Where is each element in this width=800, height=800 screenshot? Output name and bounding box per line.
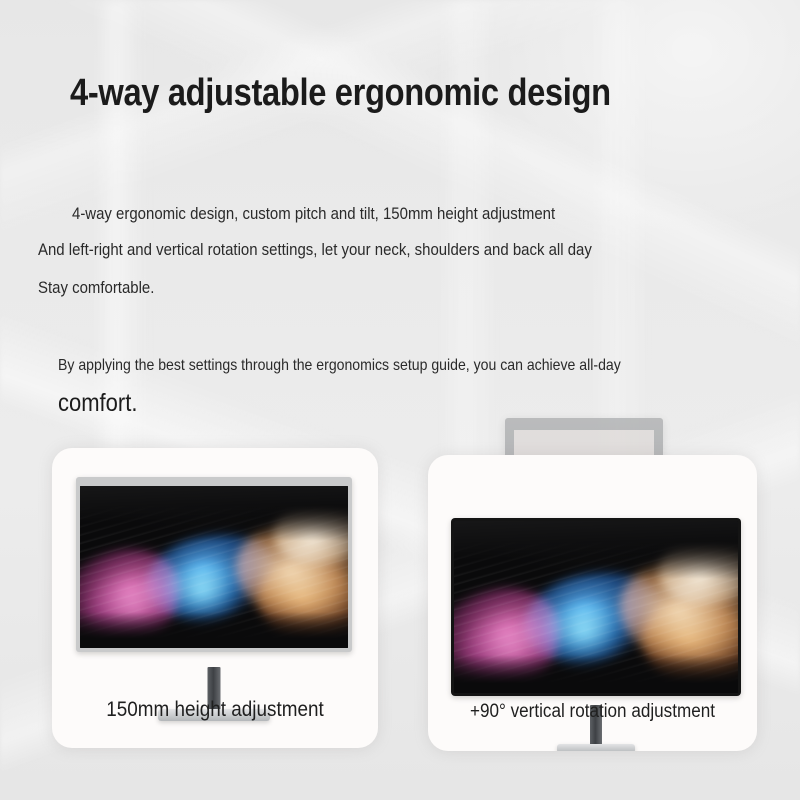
monitor-landscape-right — [451, 518, 741, 696]
monitor-screen — [80, 486, 348, 648]
page-title: 4-way adjustable ergonomic design — [70, 72, 611, 115]
secondary-paragraph-line-2: comfort. — [58, 391, 137, 416]
card-vertical-rotation[interactable]: +90° vertical rotation adjustment — [428, 455, 757, 751]
screen-gloss — [80, 486, 348, 648]
content-layer: 4-way adjustable ergonomic design 4-way … — [0, 0, 800, 800]
monitor-bezel — [76, 477, 352, 652]
intro-paragraph-line-3: Stay comfortable. — [38, 279, 154, 296]
wallpaper-abstract-ribbons — [80, 486, 348, 648]
intro-paragraph-line-2: And left-right and vertical rotation set… — [38, 241, 592, 258]
wallpaper-abstract-ribbons — [454, 521, 738, 693]
monitor-bezel — [451, 518, 741, 696]
monitor-landscape-left — [76, 477, 352, 652]
monitor-screen — [454, 521, 738, 693]
card-caption-vertical-rotation: +90° vertical rotation adjustment — [444, 701, 740, 723]
screen-gloss — [454, 521, 738, 693]
card-height-adjustment[interactable]: 150mm height adjustment — [52, 448, 378, 748]
secondary-paragraph-line-1: By applying the best settings through th… — [58, 358, 621, 374]
monitor-stand-base — [557, 744, 635, 751]
intro-paragraph-line-1: 4-way ergonomic design, custom pitch and… — [72, 205, 555, 222]
card-caption-height-adjustment: 150mm height adjustment — [68, 698, 361, 722]
promo-page: 4-way adjustable ergonomic design 4-way … — [0, 0, 800, 800]
